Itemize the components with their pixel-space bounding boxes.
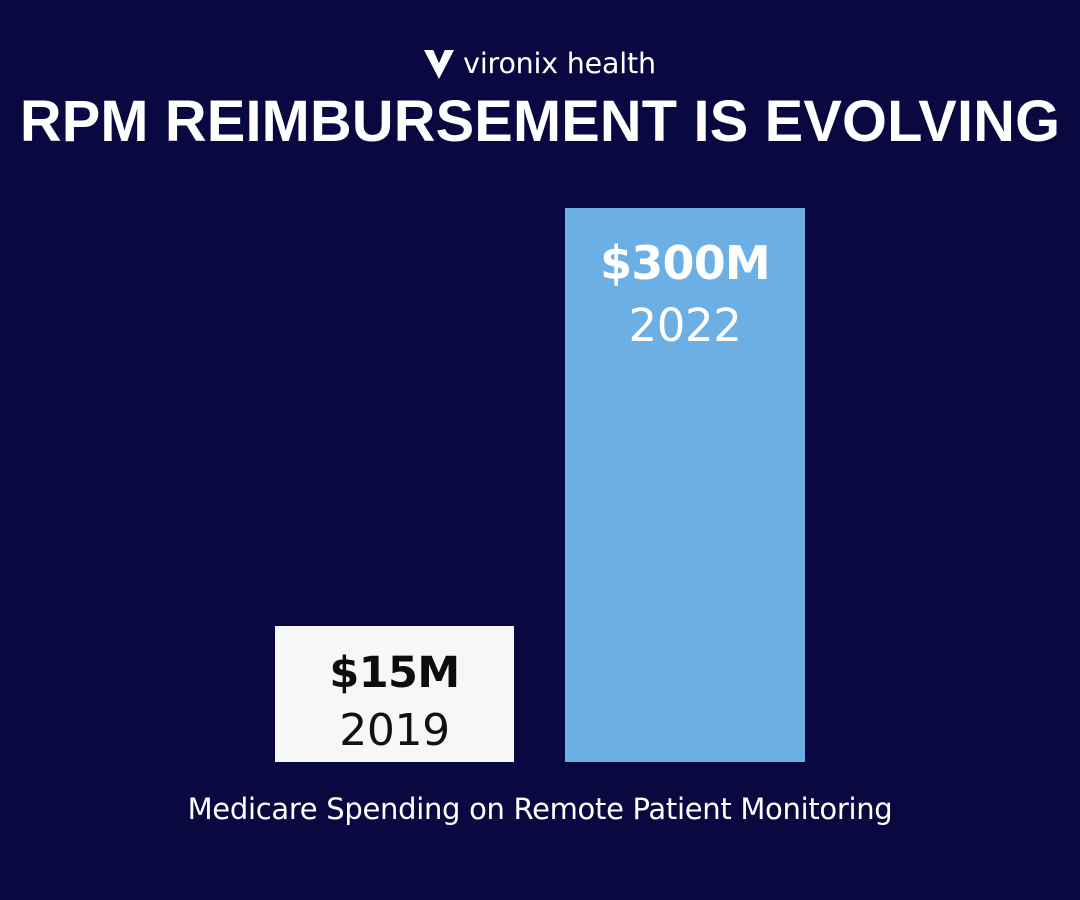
bar-chart: $15M 2019 $300M 2022 <box>0 0 1080 900</box>
bar-2019: $15M 2019 <box>275 626 514 762</box>
bar-2019-year-label: 2019 <box>339 709 449 753</box>
bar-2022-value-label: $300M <box>600 240 770 286</box>
bar-2019-value-label: $15M <box>329 652 459 695</box>
bar-2022: $300M 2022 <box>565 208 805 762</box>
chart-caption: Medicare Spending on Remote Patient Moni… <box>0 792 1080 827</box>
infographic-canvas: vironix health RPM REIMBURSEMENT IS EVOL… <box>0 0 1080 900</box>
bar-2022-year-label: 2022 <box>629 303 742 348</box>
